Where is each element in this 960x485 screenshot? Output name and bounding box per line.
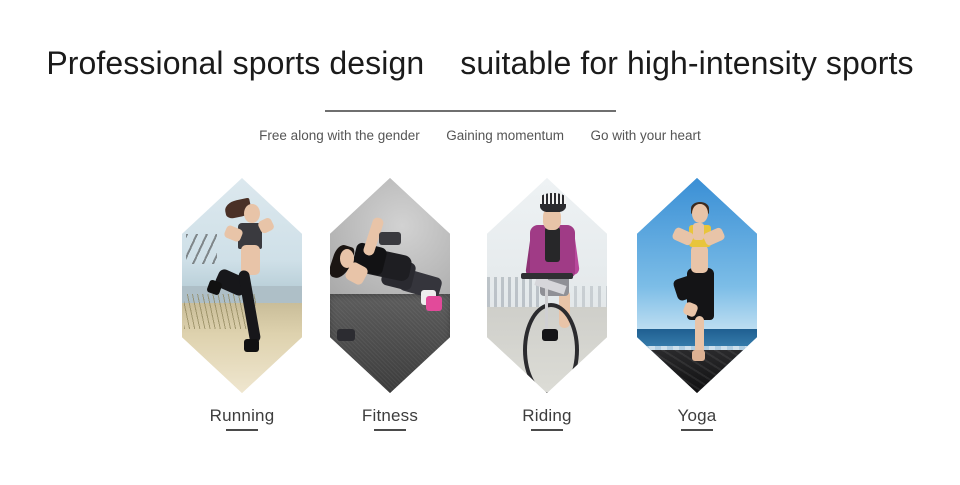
- yogi-foot: [692, 350, 705, 361]
- dumbbell-floor: [337, 329, 355, 342]
- category-card-fitness[interactable]: [330, 178, 450, 393]
- tagline-3: Go with your heart: [591, 126, 701, 145]
- headline-part-b: suitable for high-intensity sports: [460, 45, 913, 81]
- title-divider: [325, 110, 616, 112]
- label-text: Running: [182, 405, 302, 427]
- category-label-fitness[interactable]: Fitness: [330, 405, 450, 431]
- category-label-yoga[interactable]: Yoga: [637, 405, 757, 431]
- yogi-torso: [691, 245, 708, 273]
- label-text: Yoga: [637, 405, 757, 427]
- hexagon-photo-yoga: [637, 178, 757, 393]
- label-text: Fitness: [330, 405, 450, 427]
- hexagon-photo-running: [182, 178, 302, 393]
- cyclist-shirt: [545, 227, 561, 261]
- dumbbell-raised: [379, 232, 401, 245]
- sports-banner: Professional sports designsuitable for h…: [0, 0, 960, 485]
- category-card-row: [182, 178, 758, 393]
- athlete-head: [340, 249, 354, 268]
- tagline-row: Free along with the gender Gaining momen…: [0, 126, 960, 145]
- photo-riding: [487, 178, 607, 393]
- photo-fitness: [330, 178, 450, 393]
- bicycle-front-wheel: [523, 303, 579, 393]
- hexagon-photo-fitness: [330, 178, 450, 393]
- label-underline: [374, 429, 406, 431]
- yogi-prayer-hands: [693, 223, 704, 240]
- tagline-2: Gaining momentum: [446, 126, 564, 145]
- page-title: Professional sports designsuitable for h…: [0, 40, 960, 86]
- bicycle-handlebar: [521, 273, 574, 279]
- category-card-running[interactable]: [182, 178, 302, 393]
- birds: [186, 234, 217, 264]
- category-label-riding[interactable]: Riding: [487, 405, 607, 431]
- label-text: Riding: [487, 405, 607, 427]
- photo-running: [182, 178, 302, 393]
- category-label-running[interactable]: Running: [182, 405, 302, 431]
- label-underline: [226, 429, 258, 431]
- cyclist-helmet-vents: [540, 193, 566, 204]
- hexagon-photo-riding: [487, 178, 607, 393]
- runner-head: [244, 204, 260, 223]
- photo-yoga: [637, 178, 757, 393]
- yogi-head: [692, 204, 708, 223]
- runner-front-shoe: [244, 339, 258, 352]
- category-card-riding[interactable]: [487, 178, 607, 393]
- label-underline: [531, 429, 563, 431]
- athlete-shoe-pink: [426, 296, 442, 311]
- tagline-1: Free along with the gender: [259, 126, 420, 145]
- label-underline: [681, 429, 713, 431]
- category-card-yoga[interactable]: [637, 178, 757, 393]
- headline-part-a: Professional sports design: [46, 45, 424, 81]
- yogi-standing-leg: [695, 316, 705, 355]
- cyclist-shoe: [542, 329, 558, 342]
